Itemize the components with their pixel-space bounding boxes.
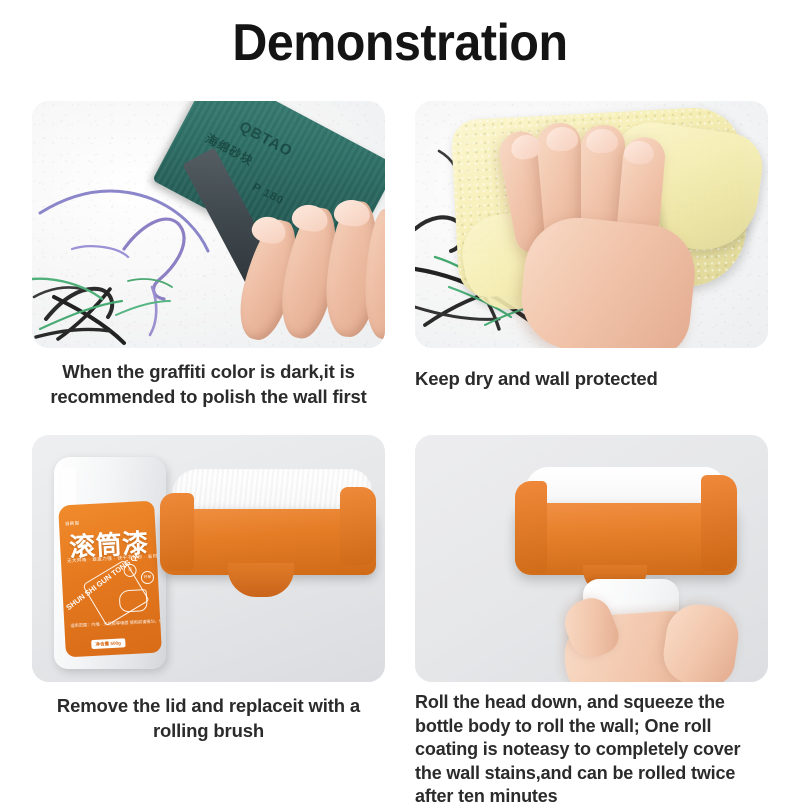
- step-card-2: Keep dry and wall protected: [415, 101, 768, 391]
- bottle-label: 自刷型 滚筒漆 无大异味 · 遮盖力强 · 快干不掉粉 · 省时省力 SHUN …: [58, 501, 162, 658]
- roller-arm-right: [701, 475, 737, 571]
- fingernail: [586, 129, 618, 153]
- step-card-1: QBTAO 海绵砂块 P 180 When the graffiti color…: [32, 101, 385, 409]
- photo-wiping-wall-with-yellow-cloth: [415, 101, 768, 348]
- paint-bottle: 自刷型 滚筒漆 无大异味 · 遮盖力强 · 快干不掉粉 · 省时省力 SHUN …: [54, 457, 166, 669]
- photo-rolling-the-wall: [415, 435, 768, 682]
- roller-arm-left: [160, 493, 194, 571]
- step-card-4: Roll the head down, and squeeze the bott…: [415, 435, 768, 809]
- hand-line-art-icon: [119, 589, 148, 612]
- step-caption-3: Remove the lid and replaceit with a roll…: [32, 693, 385, 743]
- label-weight-tag: 净含量 500g: [91, 638, 125, 649]
- page-title: Demonstration: [28, 14, 772, 72]
- photo-bottle-and-roller-head: 自刷型 滚筒漆 无大异味 · 遮盖力强 · 快干不掉粉 · 省时省力 SHUN …: [32, 435, 385, 682]
- step-caption-4: Roll the head down, and squeeze the bott…: [415, 691, 768, 809]
- label-badge-2: 环保: [141, 571, 155, 585]
- roller-arm-left: [515, 481, 547, 573]
- roller-arm-right: [340, 487, 376, 565]
- step-caption-2: Keep dry and wall protected: [415, 366, 768, 391]
- photo-sanding-sponge-on-graffiti-wall: QBTAO 海绵砂块 P 180: [32, 101, 385, 348]
- step-card-3: 自刷型 滚筒漆 无大异味 · 遮盖力强 · 快干不掉粉 · 省时省力 SHUN …: [32, 435, 385, 743]
- step-caption-1: When the graffiti color is dark,it is re…: [32, 359, 385, 409]
- palm: [517, 212, 700, 348]
